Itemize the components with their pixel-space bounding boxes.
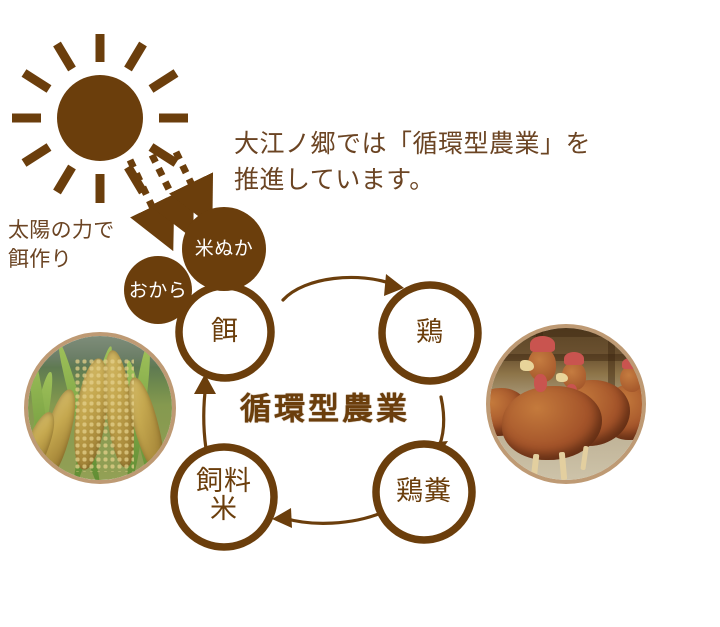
hens-photo	[486, 324, 646, 484]
sun-icon	[12, 34, 188, 203]
node-feed-circle[interactable]	[179, 286, 271, 378]
node-manure-circle[interactable]	[376, 444, 472, 540]
infographic-canvas: 大江ノ郷では「循環型農業」を 推進しています。 太陽の力で 餌作り 餌 鶏 鶏糞…	[0, 0, 720, 627]
cycle-arrow-manure-to-rice	[272, 508, 386, 528]
rice-plants-photo	[24, 332, 176, 484]
node-chicken-circle[interactable]	[382, 285, 478, 381]
chip-rice-bran-circle[interactable]	[182, 207, 266, 291]
sun-caption: 太陽の力で 餌作り	[8, 216, 158, 274]
cycle-diagram-graphics	[0, 0, 720, 627]
cycle-arrow-rice-to-feed	[194, 374, 216, 455]
cycle-arrow-feed-to-chicken	[283, 274, 404, 300]
node-rice-circle[interactable]	[174, 447, 274, 547]
page-title: 大江ノ郷では「循環型農業」を 推進しています。	[234, 126, 634, 197]
rice-photo-art	[28, 336, 172, 480]
hens-photo-art	[490, 328, 642, 480]
